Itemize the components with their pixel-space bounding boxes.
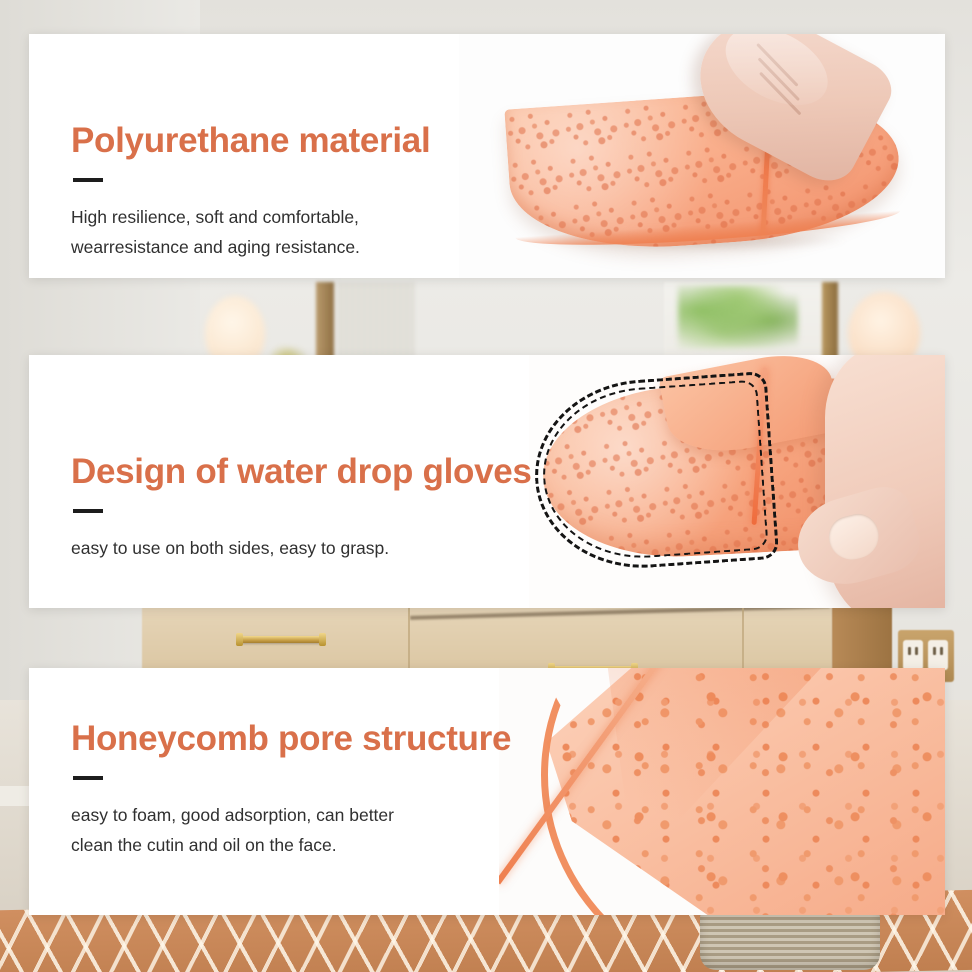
feature-panel-1: Polyurethane material High resilience, s… (29, 34, 945, 278)
panel-1-title: Polyurethane material (71, 122, 591, 161)
panel-3-divider (73, 776, 103, 780)
panel-2-title: Design of water drop gloves (71, 453, 591, 492)
panel-1-description-line-1: High resilience, soft and comfortable, (71, 202, 591, 232)
woven-basket (700, 908, 880, 970)
panel-3-description-line-1: easy to foam, good adsorption, can bette… (71, 800, 591, 830)
foliage (678, 286, 798, 348)
panel-1-description-line-2: wearresistance and aging resistance. (71, 232, 591, 262)
panel-3-text-block: Honeycomb pore structure easy to foam, g… (71, 720, 591, 860)
panel-3-title: Honeycomb pore structure (71, 720, 591, 759)
panel-2-text-block: Design of water drop gloves easy to use … (71, 453, 591, 563)
panel-1-divider (73, 178, 103, 182)
panel-3-description-line-2: clean the cutin and oil on the face. (71, 830, 591, 860)
panel-2-description-line-1: easy to use on both sides, easy to grasp… (71, 533, 591, 563)
product-photo-2 (529, 355, 945, 608)
feature-panel-2: Design of water drop gloves easy to use … (29, 355, 945, 608)
feature-panel-3: Honeycomb pore structure easy to foam, g… (29, 668, 945, 915)
panel-1-text-block: Polyurethane material High resilience, s… (71, 122, 591, 262)
panel-2-divider (73, 509, 103, 513)
drawer-handle (240, 636, 322, 643)
